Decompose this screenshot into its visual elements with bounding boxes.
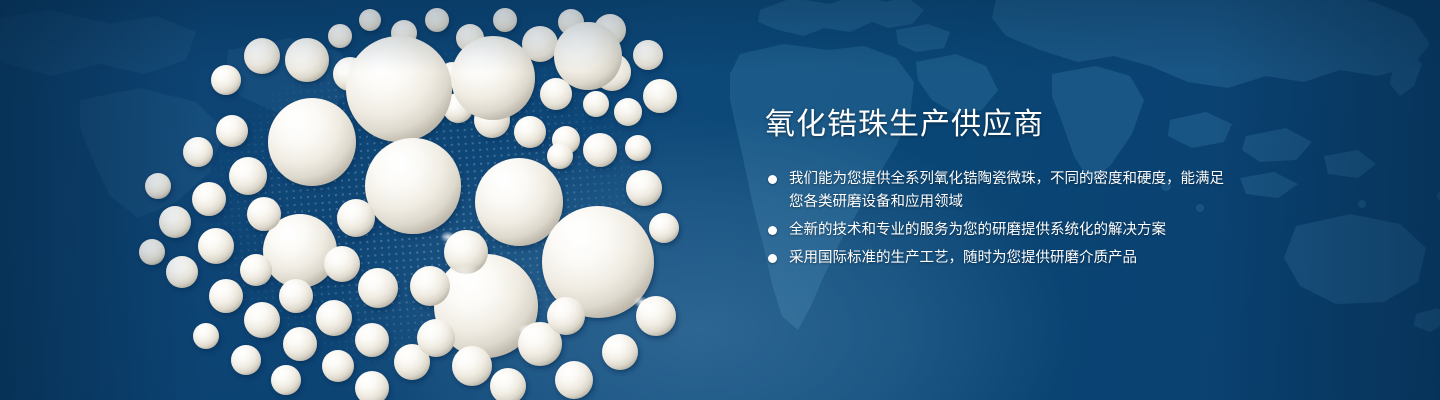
feature-list: 我们能为您提供全系列氧化锆陶瓷微珠，不同的密度和硬度，能满足您各类研磨设备和应用… bbox=[765, 168, 1235, 270]
page-title: 氧化锆珠生产供应商 bbox=[765, 106, 1235, 144]
list-item-label: 采用国际标准的生产工艺，随时为您提供研磨介质产品 bbox=[789, 247, 1235, 270]
banner-copy: 氧化锆珠生产供应商 我们能为您提供全系列氧化锆陶瓷微珠，不同的密度和硬度，能满足… bbox=[765, 106, 1235, 270]
list-item: 采用国际标准的生产工艺，随时为您提供研磨介质产品 bbox=[765, 247, 1235, 270]
list-item-label: 全新的技术和专业的服务为您的研磨提供系统化的解决方案 bbox=[789, 219, 1235, 242]
hero-banner: 氧化锆珠生产供应商 我们能为您提供全系列氧化锆陶瓷微珠，不同的密度和硬度，能满足… bbox=[0, 0, 1440, 400]
list-item: 全新的技术和专业的服务为您的研磨提供系统化的解决方案 bbox=[765, 219, 1235, 242]
bullet-dot-icon bbox=[768, 254, 777, 263]
list-item-label: 我们能为您提供全系列氧化锆陶瓷微珠，不同的密度和硬度，能满足您各类研磨设备和应用… bbox=[789, 168, 1235, 214]
list-item: 我们能为您提供全系列氧化锆陶瓷微珠，不同的密度和硬度，能满足您各类研磨设备和应用… bbox=[765, 168, 1235, 214]
bullet-dot-icon bbox=[768, 226, 777, 235]
bullet-dot-icon bbox=[768, 175, 777, 184]
